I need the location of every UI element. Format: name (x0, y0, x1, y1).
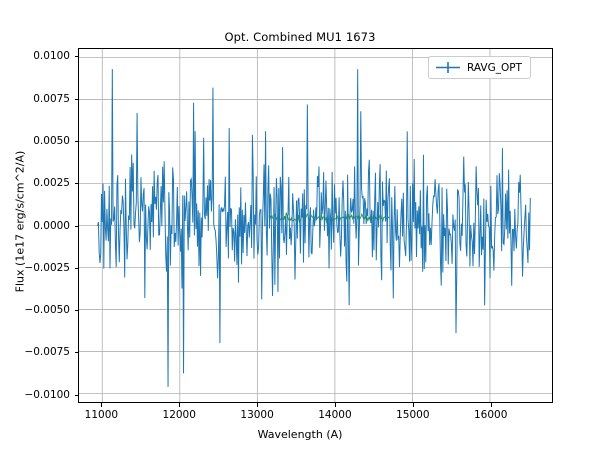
legend-item-label: RAVG_OPT (467, 62, 522, 74)
x-tick-mark (179, 403, 180, 407)
x-axis-label: Wavelength (A) (0, 428, 600, 441)
legend: RAVG_OPT (428, 56, 531, 79)
y-axis-tick-labels: −0.0100−0.0075−0.0050−0.00250.00000.0025… (0, 0, 70, 450)
y-tick-mark (75, 56, 79, 57)
x-tick-label: 11000 (85, 409, 118, 421)
y-tick-label: 0.0075 (33, 93, 70, 105)
y-tick-label: 0.0100 (33, 50, 70, 62)
y-tick-label: 0.0050 (33, 135, 70, 147)
y-tick-label: −0.0100 (24, 389, 70, 401)
x-tick-label: 15000 (396, 409, 429, 421)
data-series-line (98, 69, 531, 387)
y-axis-label: Flux (1e17 erg/s/cm^2/A) (14, 42, 27, 402)
matplotlib-figure: Opt. Combined MU1 1673 −0.0100−0.0075−0.… (0, 0, 600, 450)
x-axis-tick-labels: 110001200013000140001500016000 (0, 409, 600, 429)
y-tick-mark (75, 99, 79, 100)
errorbar-marker-icon (435, 61, 461, 74)
x-tick-mark (101, 403, 102, 407)
y-tick-label: −0.0025 (24, 262, 70, 274)
x-tick-label: 14000 (318, 409, 351, 421)
y-tick-mark (75, 183, 79, 184)
y-tick-mark (75, 141, 79, 142)
x-tick-mark (335, 403, 336, 407)
x-tick-label: 13000 (240, 409, 273, 421)
x-tick-label: 16000 (474, 409, 507, 421)
x-tick-mark (257, 403, 258, 407)
y-tick-mark (75, 268, 79, 269)
y-tick-mark (75, 226, 79, 227)
spectrum-data-layer (79, 49, 552, 402)
x-tick-label: 12000 (163, 409, 196, 421)
y-tick-label: 0.0000 (33, 220, 70, 232)
y-tick-label: −0.0050 (24, 304, 70, 316)
y-tick-mark (75, 395, 79, 396)
x-tick-mark (491, 403, 492, 407)
y-tick-label: 0.0025 (33, 177, 70, 189)
x-tick-mark (413, 403, 414, 407)
y-tick-mark (75, 310, 79, 311)
y-tick-mark (75, 352, 79, 353)
page-title: Opt. Combined MU1 1673 (0, 30, 600, 44)
y-tick-label: −0.0075 (24, 346, 70, 358)
plot-axes (78, 48, 553, 403)
